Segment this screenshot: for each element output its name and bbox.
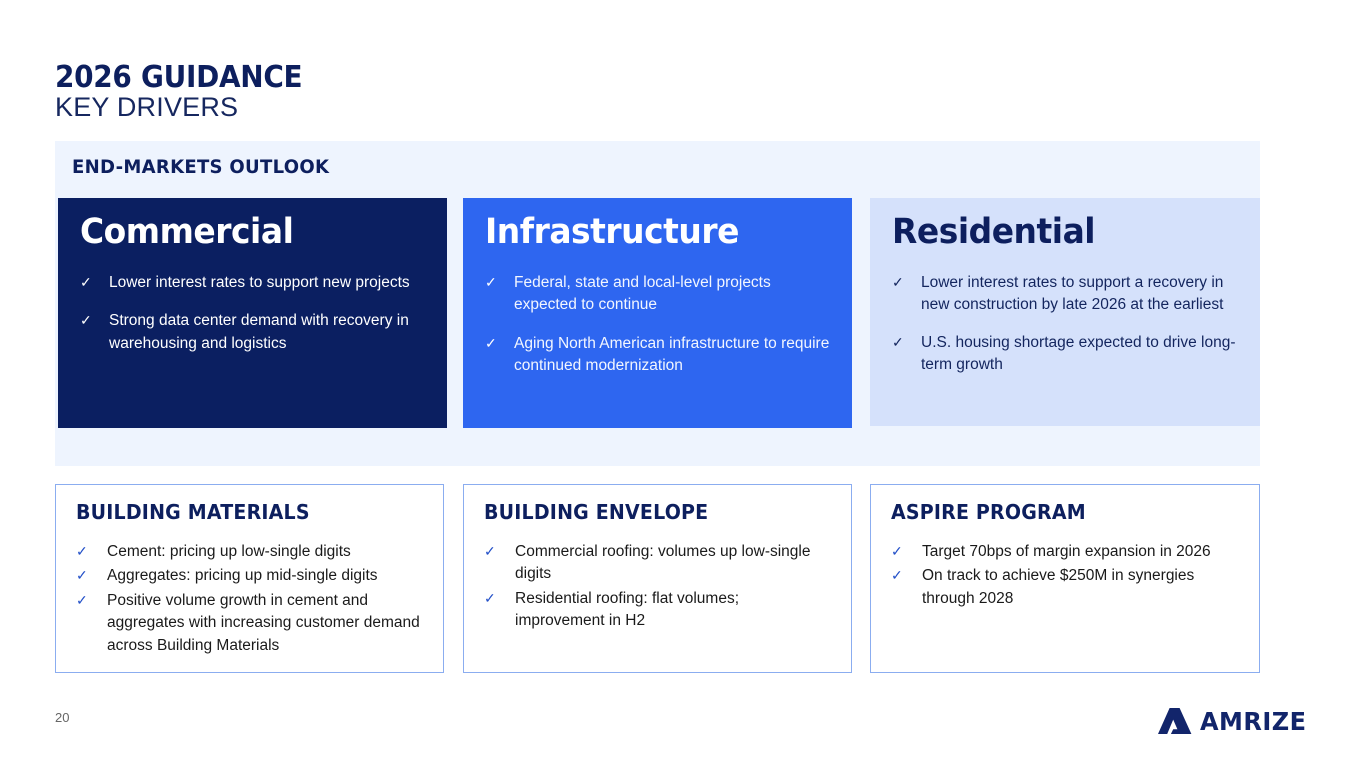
check-icon: ✓	[80, 272, 109, 294]
list-item: ✓ Cement: pricing up low-single digits	[76, 541, 423, 563]
list-item-text: U.S. housing shortage expected to drive …	[921, 332, 1238, 377]
amrize-wordmark: AMRIZE	[1200, 707, 1307, 736]
card-heading-commercial: Commercial	[80, 214, 404, 252]
end-market-card-infrastructure: Infrastructure ✓ Federal, state and loca…	[463, 198, 852, 428]
bullet-list-building-envelope: ✓ Commercial roofing: volumes up low-sin…	[484, 541, 831, 633]
list-item: ✓ Aging North American infrastructure to…	[485, 333, 830, 378]
card-heading-aspire-program: ASPIRE PROGRAM	[891, 500, 1222, 524]
card-heading-building-envelope: BUILDING ENVELOPE	[484, 500, 814, 524]
list-item: ✓ Positive volume growth in cement and a…	[76, 590, 423, 657]
list-item-text: Lower interest rates to support new proj…	[109, 272, 425, 294]
card-heading-infrastructure: Infrastructure	[485, 214, 809, 252]
list-item: ✓ Commercial roofing: volumes up low-sin…	[484, 541, 831, 586]
check-icon: ✓	[76, 541, 107, 563]
check-icon: ✓	[484, 588, 515, 633]
list-item-text: Aging North American infrastructure to r…	[514, 333, 830, 378]
list-item: ✓ Aggregates: pricing up mid-single digi…	[76, 565, 423, 587]
list-item: ✓ Lower interest rates to support a reco…	[892, 272, 1238, 317]
list-item: ✓ U.S. housing shortage expected to driv…	[892, 332, 1238, 377]
check-icon: ✓	[76, 565, 107, 587]
list-item-text: Federal, state and local-level projects …	[514, 272, 830, 317]
check-icon: ✓	[892, 332, 921, 377]
bullet-list-commercial: ✓ Lower interest rates to support new pr…	[80, 272, 425, 355]
segment-card-aspire-program: ASPIRE PROGRAM ✓ Target 70bps of margin …	[870, 484, 1260, 673]
list-item-text: Aggregates: pricing up mid-single digits	[107, 565, 423, 587]
check-icon: ✓	[891, 541, 922, 563]
list-item: ✓ Federal, state and local-level project…	[485, 272, 830, 317]
check-icon: ✓	[485, 333, 514, 378]
check-icon: ✓	[484, 541, 515, 586]
page-title: 2026 GUIDANCE	[55, 60, 302, 95]
bullet-list-infrastructure: ✓ Federal, state and local-level project…	[485, 272, 830, 378]
card-heading-building-materials: BUILDING MATERIALS	[76, 500, 406, 524]
end-market-card-commercial: Commercial ✓ Lower interest rates to sup…	[58, 198, 447, 428]
list-item-text: Strong data center demand with recovery …	[109, 310, 425, 355]
list-item-text: Positive volume growth in cement and agg…	[107, 590, 423, 657]
check-icon: ✓	[892, 272, 921, 317]
list-item: ✓ Lower interest rates to support new pr…	[80, 272, 425, 294]
list-item: ✓ On track to achieve $250M in synergies…	[891, 565, 1239, 610]
segment-card-building-envelope: BUILDING ENVELOPE ✓ Commercial roofing: …	[463, 484, 852, 673]
list-item: ✓ Strong data center demand with recover…	[80, 310, 425, 355]
page-number: 20	[55, 710, 69, 725]
list-item-text: Residential roofing: flat volumes; impro…	[515, 588, 831, 633]
end-market-card-residential: Residential ✓ Lower interest rates to su…	[870, 198, 1260, 426]
list-item-text: Commercial roofing: volumes up low-singl…	[515, 541, 831, 586]
list-item-text: Target 70bps of margin expansion in 2026	[922, 541, 1239, 563]
end-markets-outlook-heading: END-MARKETS OUTLOOK	[72, 156, 329, 178]
page-subtitle: KEY DRIVERS	[55, 92, 238, 123]
segment-card-building-materials: BUILDING MATERIALS ✓ Cement: pricing up …	[55, 484, 444, 673]
bullet-list-aspire-program: ✓ Target 70bps of margin expansion in 20…	[891, 541, 1239, 610]
slide-canvas: 2026 GUIDANCE KEY DRIVERS END-MARKETS OU…	[0, 0, 1365, 768]
list-item-text: Lower interest rates to support a recove…	[921, 272, 1238, 317]
bullet-list-residential: ✓ Lower interest rates to support a reco…	[892, 272, 1238, 377]
list-item-text: On track to achieve $250M in synergies t…	[922, 565, 1239, 610]
check-icon: ✓	[891, 565, 922, 610]
amrize-a-mark-icon	[1157, 706, 1193, 736]
card-heading-residential: Residential	[892, 214, 1217, 252]
list-item: ✓ Residential roofing: flat volumes; imp…	[484, 588, 831, 633]
check-icon: ✓	[485, 272, 514, 317]
amrize-logo: AMRIZE	[1157, 706, 1311, 736]
bullet-list-building-materials: ✓ Cement: pricing up low-single digits ✓…	[76, 541, 423, 657]
list-item: ✓ Target 70bps of margin expansion in 20…	[891, 541, 1239, 563]
check-icon: ✓	[80, 310, 109, 355]
list-item-text: Cement: pricing up low-single digits	[107, 541, 423, 563]
check-icon: ✓	[76, 590, 107, 657]
